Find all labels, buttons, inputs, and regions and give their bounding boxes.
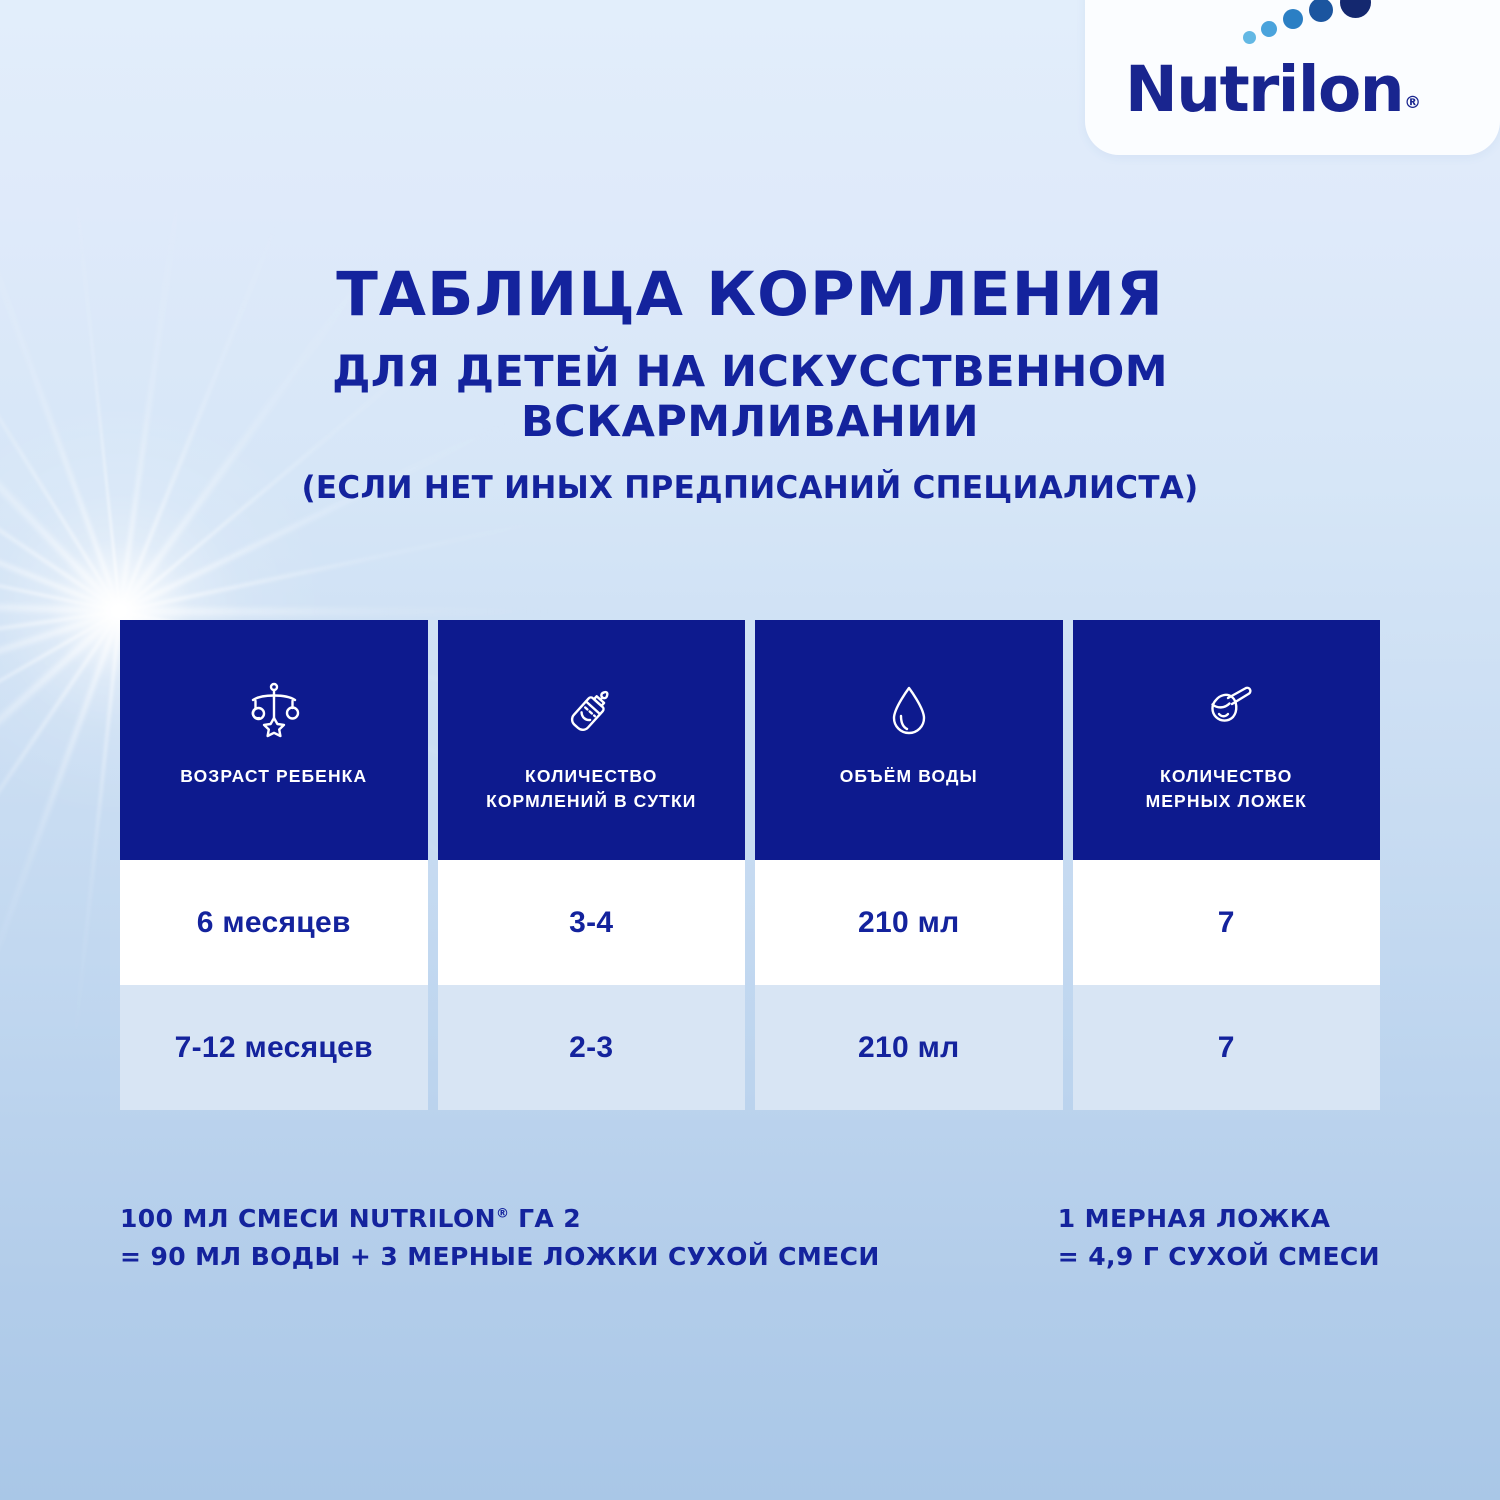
logo-dots-arc <box>1243 6 1393 46</box>
feeding-table-poster: Nutrilon® ТАБЛИЦА КОРМЛЕНИЯ ДЛЯ ДЕТЕЙ НА… <box>0 0 1500 1500</box>
brand-name-text: Nutrilon <box>1125 53 1403 126</box>
logo-dot-5 <box>1340 0 1371 18</box>
header-label-line-1: КОЛИЧЕСТВО <box>1160 766 1292 786</box>
header-label-line-1: КОЛИЧЕСТВО <box>525 766 657 786</box>
table-header-cell-feedings: КОЛИЧЕСТВО КОРМЛЕНИЙ В СУТКИ <box>438 620 746 860</box>
footnote-right-line-2: = 4,9 Г СУХОЙ СМЕСИ <box>1058 1238 1380 1276</box>
footnote-right: 1 МЕРНАЯ ЛОЖКА = 4,9 Г СУХОЙ СМЕСИ <box>1058 1200 1380 1276</box>
footnote-left-line-1-pre: 100 МЛ СМЕСИ NUTRILON <box>120 1204 496 1233</box>
measuring-scoop-icon <box>1194 678 1258 742</box>
table-cell-water-row-2: 210 мл <box>755 985 1063 1110</box>
table-cell-scoops-row-2: 7 <box>1073 985 1381 1110</box>
header-label-line-2: МЕРНЫХ ЛОЖЕК <box>1146 791 1307 811</box>
footnote-left-line-2: = 90 МЛ ВОДЫ + 3 МЕРНЫЕ ЛОЖКИ СУХОЙ СМЕС… <box>120 1238 880 1276</box>
table-column-age: ВОЗРАСТ РЕБЕНКА 6 месяцев 7-12 месяцев <box>120 620 428 1110</box>
header-label-line-2: КОРМЛЕНИЙ В СУТКИ <box>486 791 696 811</box>
table-header-cell-age: ВОЗРАСТ РЕБЕНКА <box>120 620 428 860</box>
baby-mobile-icon <box>242 678 306 742</box>
page-title: ТАБЛИЦА КОРМЛЕНИЯ <box>0 262 1500 328</box>
footnote-left-line-1-post: ГА 2 <box>509 1204 581 1233</box>
feeding-table: ВОЗРАСТ РЕБЕНКА 6 месяцев 7-12 месяцев <box>120 620 1380 1110</box>
footnote-left: 100 МЛ СМЕСИ NUTRILON® ГА 2 = 90 МЛ ВОДЫ… <box>120 1200 880 1276</box>
table-header-cell-water: ОБЪЁМ ВОДЫ <box>755 620 1063 860</box>
page-note: (ЕСЛИ НЕТ ИНЫХ ПРЕДПИСАНИЙ СПЕЦИАЛИСТА) <box>0 470 1500 507</box>
table-cell-feedings-row-1: 3-4 <box>438 860 746 985</box>
table-header-cell-scoops: КОЛИЧЕСТВО МЕРНЫХ ЛОЖЕК <box>1073 620 1381 860</box>
water-drop-icon <box>877 678 941 742</box>
footnote-right-line-1: 1 МЕРНАЯ ЛОЖКА <box>1058 1200 1380 1238</box>
poster-headings: ТАБЛИЦА КОРМЛЕНИЯ ДЛЯ ДЕТЕЙ НА ИСКУССТВЕ… <box>0 262 1500 507</box>
footnote-left-line-1: 100 МЛ СМЕСИ NUTRILON® ГА 2 <box>120 1200 880 1238</box>
table-column-water: ОБЪЁМ ВОДЫ 210 мл 210 мл <box>755 620 1063 1110</box>
logo-dot-3 <box>1283 9 1303 29</box>
table-cell-feedings-row-2: 2-3 <box>438 985 746 1110</box>
header-label-line-1: ОБЪЁМ ВОДЫ <box>840 766 978 786</box>
table-column-scoops: КОЛИЧЕСТВО МЕРНЫХ ЛОЖЕК 7 7 <box>1073 620 1381 1110</box>
table-cell-water-row-1: 210 мл <box>755 860 1063 985</box>
baby-bottle-icon <box>559 678 623 742</box>
registered-trademark-icon: ® <box>496 1207 509 1222</box>
brand-wordmark: Nutrilon® <box>1125 58 1419 121</box>
logo-dot-4 <box>1309 0 1333 22</box>
table-header-label-water: ОБЪЁМ ВОДЫ <box>840 764 978 789</box>
footnotes: 100 МЛ СМЕСИ NUTRILON® ГА 2 = 90 МЛ ВОДЫ… <box>120 1200 1380 1276</box>
brand-logo-card: Nutrilon® <box>1085 0 1500 155</box>
table-header-label-age: ВОЗРАСТ РЕБЕНКА <box>180 764 367 789</box>
table-header-label-scoops: КОЛИЧЕСТВО МЕРНЫХ ЛОЖЕК <box>1146 764 1307 814</box>
header-label-line-1: ВОЗРАСТ РЕБЕНКА <box>180 766 367 786</box>
table-cell-age-row-2: 7-12 месяцев <box>120 985 428 1110</box>
page-subtitle: ДЛЯ ДЕТЕЙ НА ИСКУССТВЕННОМ ВСКАРМЛИВАНИИ <box>0 348 1500 448</box>
page-subtitle-line-1: ДЛЯ ДЕТЕЙ НА ИСКУССТВЕННОМ <box>0 348 1500 398</box>
table-header-label-feedings: КОЛИЧЕСТВО КОРМЛЕНИЙ В СУТКИ <box>486 764 696 814</box>
registered-trademark-icon: ® <box>1404 93 1420 113</box>
table-cell-scoops-row-1: 7 <box>1073 860 1381 985</box>
logo-dot-2 <box>1261 21 1277 37</box>
table-column-feedings: КОЛИЧЕСТВО КОРМЛЕНИЙ В СУТКИ 3-4 2-3 <box>438 620 746 1110</box>
page-subtitle-line-2: ВСКАРМЛИВАНИИ <box>0 398 1500 448</box>
logo-dot-1 <box>1243 31 1256 44</box>
table-cell-age-row-1: 6 месяцев <box>120 860 428 985</box>
